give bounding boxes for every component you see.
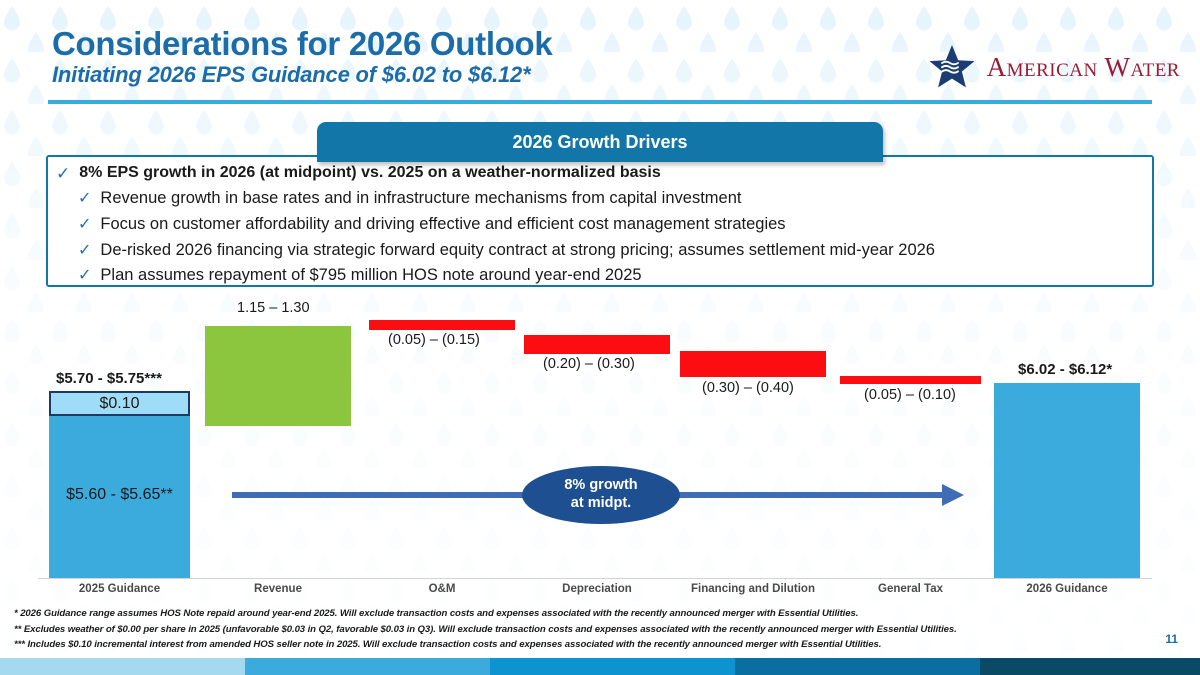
bullet-text: Revenue growth in base rates and in infr… [100,188,741,210]
growth-drivers-list: ✓ 8% EPS growth in 2026 (at midpoint) vs… [56,162,1146,291]
bar-bottom-label-financing: (0.30) – (0.40) [702,380,794,396]
bar-bottom-label-depreciation: (0.20) – (0.30) [543,356,635,372]
bullet-text: Focus on customer affordability and driv… [100,214,785,236]
footnote-3: *** Includes $0.10 incremental interest … [14,637,1034,653]
axis-label-2025-guidance: 2025 Guidance [49,583,190,595]
slide: Considerations for 2026 Outlook Initiati… [0,0,1200,675]
bar-top-label-revenue: 1.15 – 1.30 [237,300,310,316]
bullet-item: ✓ Revenue growth in base rates and in in… [78,188,1146,210]
axis-label-general-tax: General Tax [840,583,981,595]
check-icon: ✓ [56,162,70,182]
page-number: 11 [1165,632,1178,646]
bar-segment-label: $5.60 - $5.65** [49,486,190,504]
check-icon: ✓ [78,240,91,259]
bottom-color-bar [0,658,1200,675]
axis-label-revenue: Revenue [205,583,351,595]
growth-annotation-badge: 8% growth at midpt. [522,466,680,524]
bottom-bar-segment-2 [245,658,490,675]
chart-axis-line [38,578,1152,579]
logo-wordmark: American Water [987,54,1180,81]
axis-label-financing: Financing and Dilution [680,583,826,595]
american-water-logo: American Water [927,44,1180,90]
bullet-text: 8% EPS growth in 2026 (at midpoint) vs. … [79,162,661,183]
bullet-item: ✓ 8% EPS growth in 2026 (at midpoint) vs… [56,162,1146,183]
footnote-1: * 2026 Guidance range assumes HOS Note r… [14,606,1034,622]
bullet-item: ✓ Plan assumes repayment of $795 million… [78,265,1146,287]
axis-label-2026-guidance: 2026 Guidance [994,583,1140,595]
bullet-item: ✓ Focus on customer affordability and dr… [78,214,1146,236]
bottom-bar-segment-5 [980,658,1200,675]
bar-om [369,320,515,330]
page-subtitle: Initiating 2026 EPS Guidance of $6.02 to… [52,62,530,88]
bar-2026-guidance [994,383,1140,578]
bullet-text: Plan assumes repayment of $795 million H… [100,265,641,287]
growth-drivers-tab-label: 2026 Growth Drivers [512,132,687,153]
growth-annotation-line1: 8% growth [564,477,637,495]
bar-bottom-label-om: (0.05) – (0.15) [388,332,480,348]
bullet-item: ✓ De-risked 2026 financing via strategic… [78,240,1146,262]
bar-segment-2025-base: $5.60 - $5.65** [49,416,190,578]
bar-segment-label: $0.10 [51,395,188,413]
bar-top-label-2026: $6.02 - $6.12* [1018,361,1112,378]
check-icon: ✓ [78,214,91,233]
bar-revenue [205,326,351,426]
check-icon: ✓ [78,188,91,207]
header-divider [48,100,1152,104]
bar-general-tax [840,376,981,384]
bottom-bar-segment-1 [0,658,245,675]
page-title: Considerations for 2026 Outlook [52,25,552,63]
check-icon: ✓ [78,265,91,284]
bar-segment-2025-increment: $0.10 [49,391,190,416]
axis-label-om: O&M [369,583,515,595]
bar-depreciation [524,335,670,354]
chart-category-axis: 2025 Guidance Revenue O&M Depreciation F… [0,583,1200,605]
footnotes: * 2026 Guidance range assumes HOS Note r… [14,606,1034,653]
star-waves-icon [927,44,977,90]
bullet-text: De-risked 2026 financing via strategic f… [100,240,935,262]
bottom-bar-segment-4 [735,658,980,675]
bar-financing [680,351,826,377]
bar-bottom-label-general-tax: (0.05) – (0.10) [864,387,956,403]
footnote-2: ** Excludes weather of $0.00 per share i… [14,622,1034,638]
growth-annotation-line2: at midpt. [571,495,631,513]
bottom-bar-segment-3 [490,658,735,675]
bar-top-label-2025: $5.70 - $5.75*** [56,370,162,387]
waterfall-chart: $5.70 - $5.75*** $0.10 $5.60 - $5.65** 1… [0,290,1200,610]
growth-arrow-head [942,484,964,506]
growth-drivers-tab: 2026 Growth Drivers [317,122,883,162]
axis-label-depreciation: Depreciation [524,583,670,595]
